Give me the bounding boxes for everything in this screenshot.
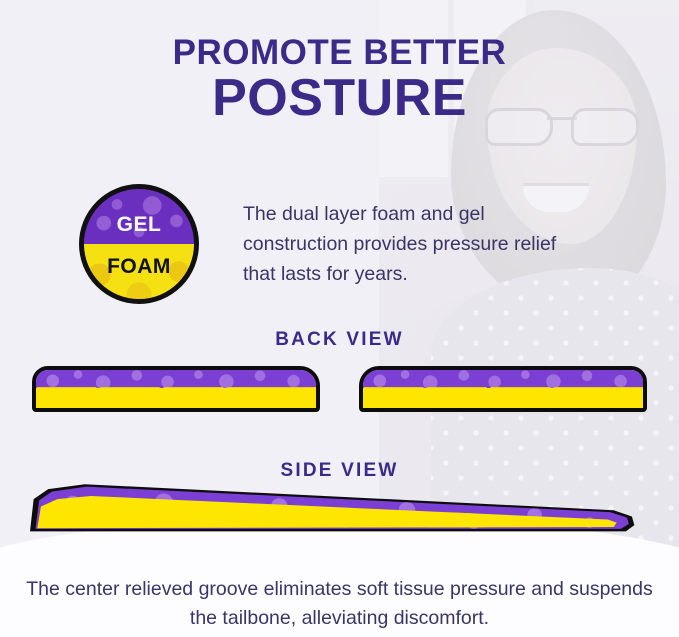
gel-foam-badge: GEL FOAM (79, 184, 199, 304)
gel-layer-left (36, 370, 316, 388)
headline-line-2: POSTURE (0, 71, 679, 126)
intro-paragraph: The dual layer foam and gel construction… (243, 199, 573, 290)
foam-layer-left (36, 388, 316, 408)
badge-foam-label: FOAM (84, 255, 194, 279)
gel-layer-right (363, 370, 643, 388)
back-view-diagram (32, 366, 647, 412)
cushion-half-left (32, 366, 320, 412)
bottom-caption: The center relieved groove eliminates so… (0, 575, 679, 633)
cushion-half-right (359, 366, 647, 412)
back-view-title: BACK VIEW (0, 329, 679, 351)
headline-line-1: PROMOTE BETTER (0, 34, 679, 71)
foam-layer-right (363, 388, 643, 408)
badge-gel-label: GEL (84, 213, 194, 237)
infographic-page: PROMOTE BETTER POSTURE GEL FOAM The dual… (0, 0, 679, 637)
side-view-diagram (30, 478, 638, 540)
page-title: PROMOTE BETTER POSTURE (0, 34, 679, 126)
